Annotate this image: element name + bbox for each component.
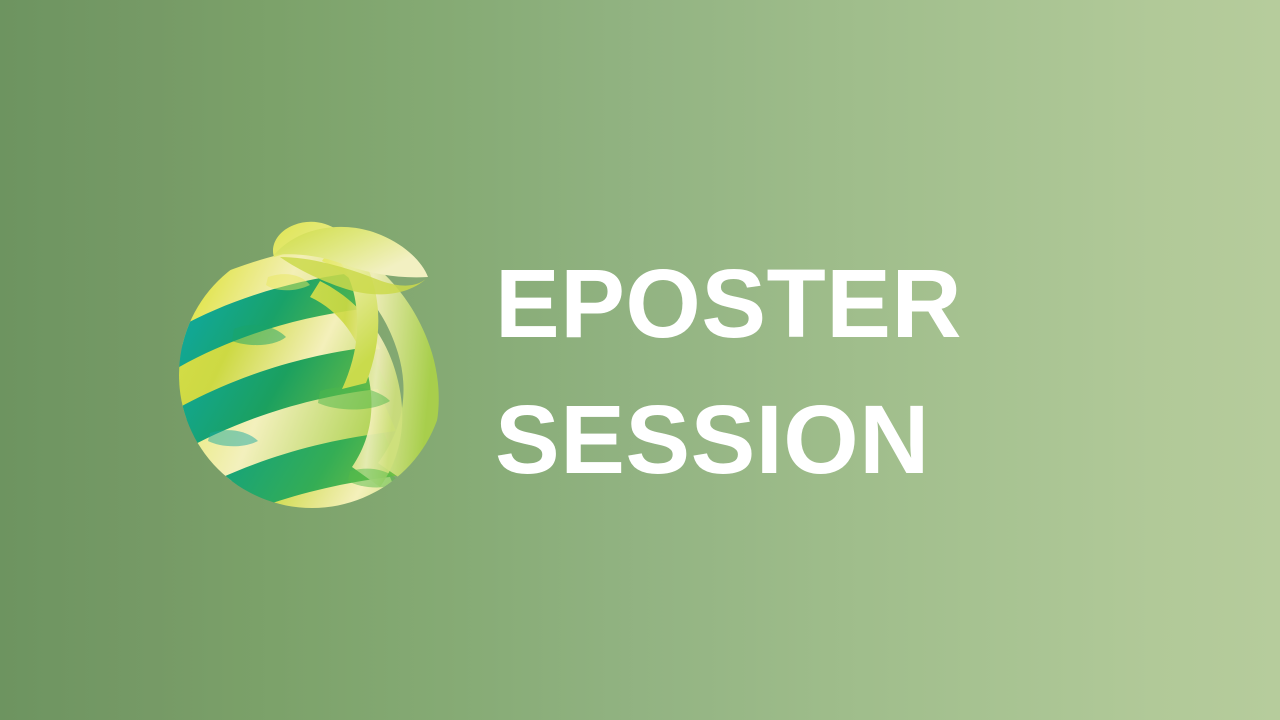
- title-block: EPOSTER SESSION: [495, 236, 1135, 508]
- globe-ribbons: [170, 241, 439, 520]
- title-line-session: SESSION: [495, 372, 1135, 508]
- slide-canvas: EPOSTER SESSION: [0, 0, 1280, 720]
- title-line-eposter: EPOSTER: [495, 236, 1135, 372]
- spiral-ribbon-globe-logo: [170, 195, 470, 520]
